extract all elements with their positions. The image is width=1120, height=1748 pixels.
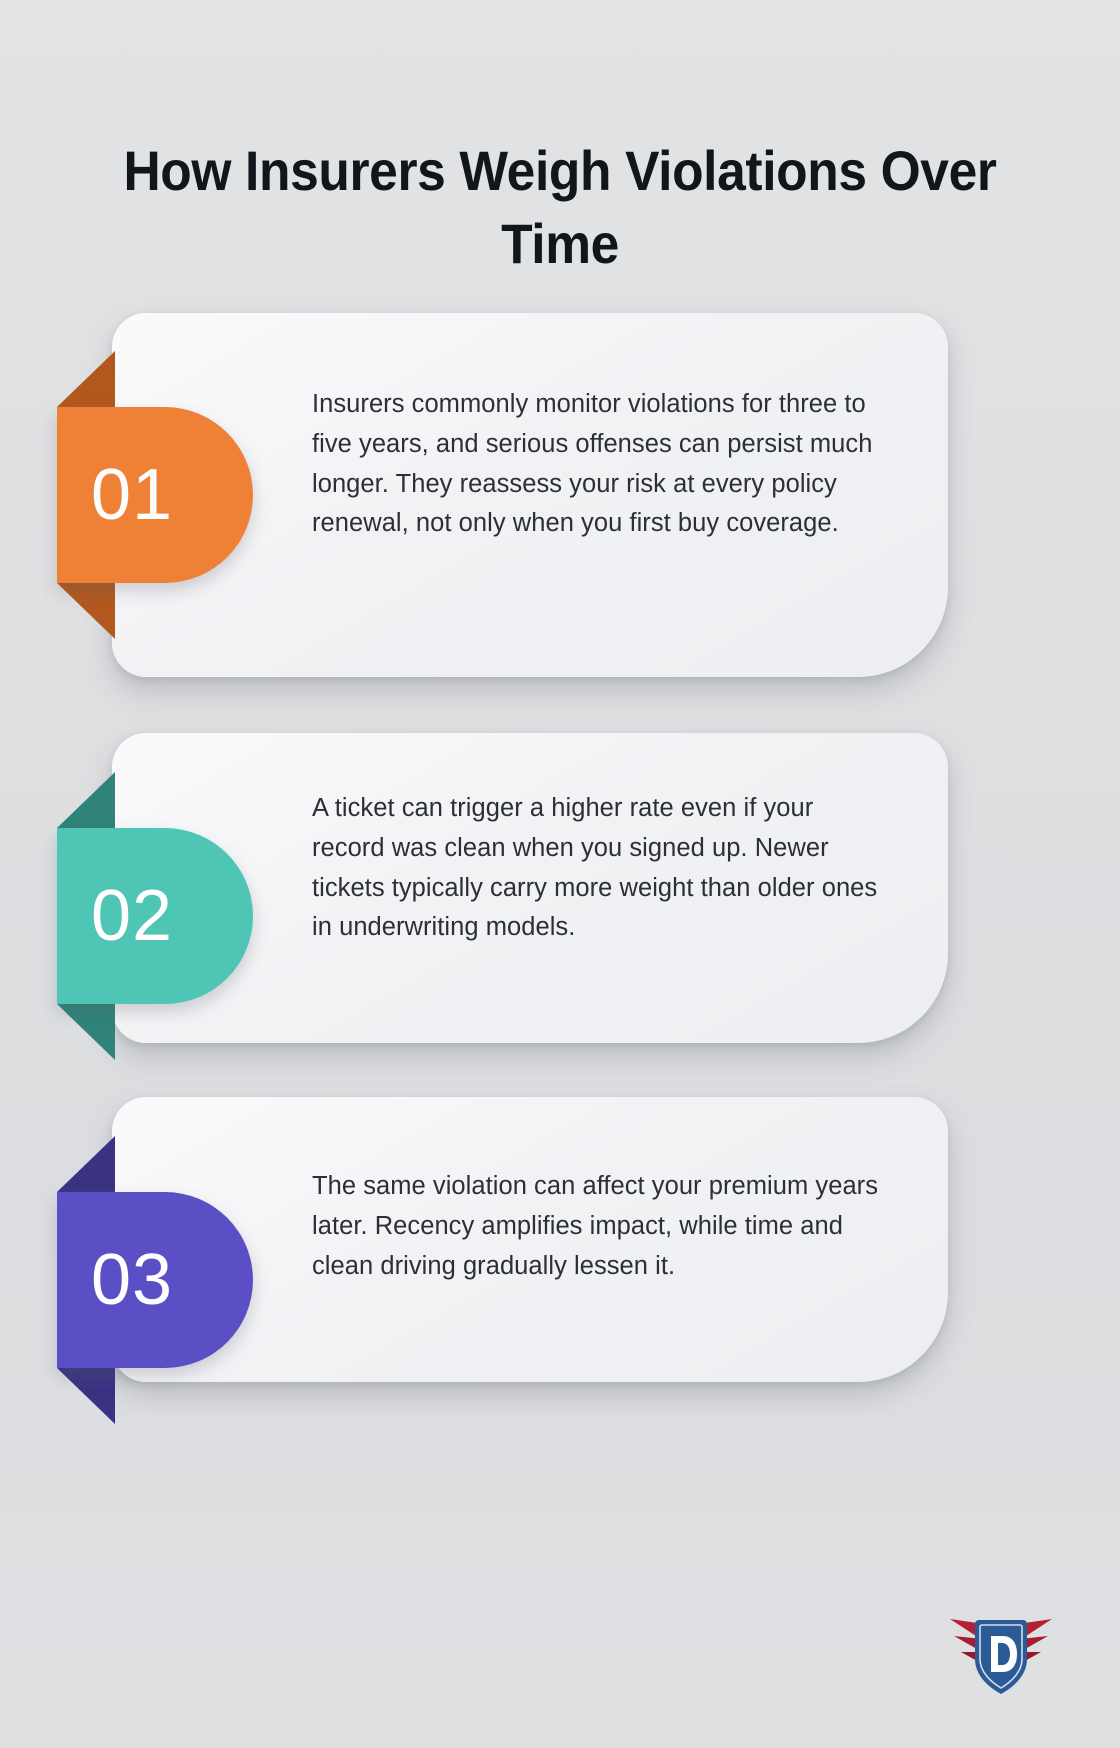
step-badge-2: 02 [57,828,253,1004]
step-number-3: 03 [91,1244,173,1316]
ribbon-fold-top-1 [57,351,115,407]
card-body-text-3: The same violation can affect your premi… [312,1167,892,1286]
step-badge-1: 01 [57,407,253,583]
infographic-page: How Insurers Weigh Violations Over Time … [0,0,1120,1748]
card-body-text-1: Insurers commonly monitor violations for… [312,385,892,544]
ribbon-fold-top-2 [57,772,115,828]
ribbon-fold-top-3 [57,1136,115,1192]
card-body-text-2: A ticket can trigger a higher rate even … [312,789,892,948]
step-number-1: 01 [91,459,173,531]
step-number-2: 02 [91,880,173,952]
page-title: How Insurers Weigh Violations Over Time [100,134,1020,282]
step-badge-3: 03 [57,1192,253,1368]
shield-wings-logo [946,1617,1056,1701]
ribbon-fold-bottom-2 [57,1004,115,1060]
ribbon-fold-bottom-3 [57,1368,115,1424]
ribbon-fold-bottom-1 [57,583,115,639]
